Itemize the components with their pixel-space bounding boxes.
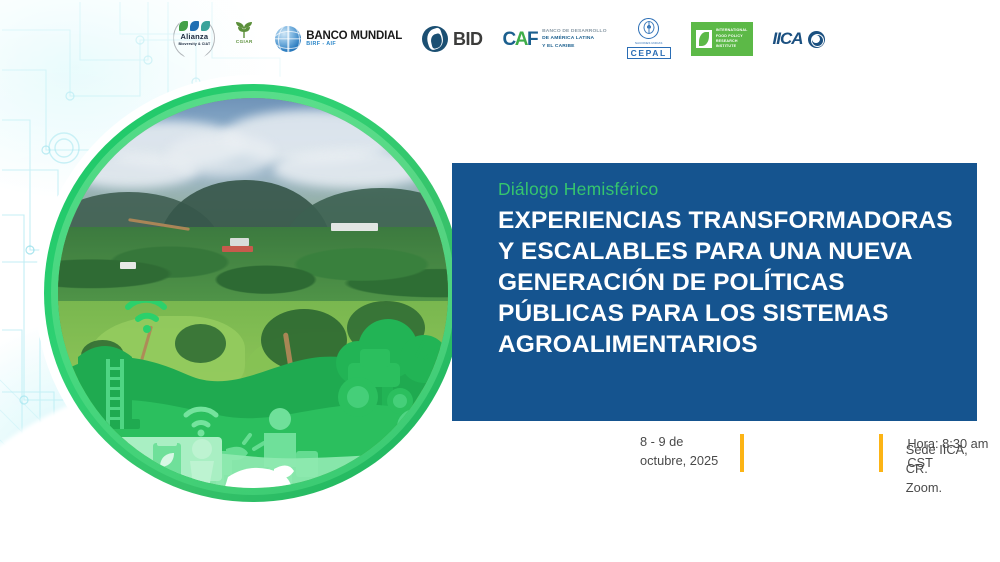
alianza-leaf-icon — [179, 18, 210, 31]
silo-icon — [70, 346, 140, 429]
logo-alianza-bioversity-ciat: Alianza Bioversity & CIAT — [175, 18, 213, 60]
iica-label: IICA — [773, 29, 803, 49]
event-venue-line-1: Sede IICA, CR. — [906, 440, 983, 478]
headline-line-3: GENERACIÓN DE POLÍTICAS — [498, 268, 967, 299]
logo-banco-mundial: BANCO MUNDIAL BIRF - AIF — [275, 18, 402, 60]
ifpri-line4: INSTITUTE — [716, 44, 748, 49]
divider-2 — [879, 434, 883, 472]
logo-ifpri: INTERNATIONAL FOOD POLICY RESEARCH INSTI… — [691, 22, 753, 56]
poster-canvas: Alianza Bioversity & CIAT CGIAR — [0, 0, 1000, 562]
bid-label: BID — [453, 29, 483, 50]
headline-line-4: PÚBLICAS PARA LOS SISTEMAS — [498, 299, 967, 330]
wifi-signal-icon — [128, 301, 164, 319]
alianza-subname: Bioversity & CIAT — [178, 42, 210, 46]
event-date-line-2: octubre, 2025 — [640, 451, 726, 470]
event-venue: Sede IICA, CR. Zoom. — [890, 440, 997, 445]
cgiar-plant-icon — [233, 18, 255, 38]
logo-cepal: NACIONES UNIDAS CEPAL — [627, 18, 671, 60]
iica-globe-icon — [808, 31, 825, 48]
logo-bid: BID — [422, 18, 483, 60]
headline-line-5: AGROALIMENTARIOS — [498, 330, 967, 361]
wifi-dot-icon — [143, 325, 151, 333]
headline-line-2: Y ESCALABLES PARA UNA NUEVA — [498, 237, 967, 268]
cepal-label: CEPAL — [627, 47, 671, 59]
cepal-un-subtitle: NACIONES UNIDAS — [635, 41, 662, 45]
caf-line3: Y EL CARIBE — [542, 43, 607, 50]
caf-letter-f: F — [527, 29, 537, 50]
united-nations-emblem-icon — [638, 18, 659, 39]
alianza-name: Alianza — [181, 32, 209, 41]
event-date: 8 - 9 de octubre, 2025 — [640, 432, 740, 439]
seed-bag-icon — [153, 439, 181, 479]
logo-caf: CAF BANCO DE DESARROLLO DE AMÉRICA LATIN… — [503, 18, 607, 60]
agri-icon-silhouette-band — [58, 301, 448, 488]
caf-line1: BANCO DE DESARROLLO — [542, 28, 607, 35]
bid-swirl-icon — [422, 26, 448, 52]
caf-line2: DE AMÉRICA LATINA — [542, 35, 607, 42]
ifpri-line1: INTERNATIONAL — [716, 28, 748, 33]
logo-iica: IICA — [773, 18, 825, 60]
cgiar-label: CGIAR — [236, 39, 253, 44]
banco-mundial-sublabel: BIRF - AIF — [306, 42, 402, 47]
logo-cgiar: CGIAR — [233, 18, 255, 60]
caf-wordmark-icon: CAF — [503, 30, 538, 49]
headline-panel: Diálogo Hemisférico EXPERIENCIAS TRANSFO… — [452, 163, 977, 421]
event-eyebrow: Diálogo Hemisférico — [498, 179, 658, 200]
event-details-row: 8 - 9 de octubre, 2025 Hora: 8:30 am CST… — [640, 432, 990, 488]
headline-line-1: EXPERIENCIAS TRANSFORMADORAS — [498, 206, 967, 237]
partner-logo-strip: Alianza Bioversity & CIAT CGIAR — [0, 16, 1000, 62]
event-headline: EXPERIENCIAS TRANSFORMADORAS Y ESCALABLE… — [498, 206, 967, 361]
divider-1 — [740, 434, 744, 472]
event-date-line-1: 8 - 9 de — [640, 432, 726, 451]
event-venue-line-2: Zoom. — [906, 478, 983, 497]
hero-photo-aerial-farmland — [58, 98, 448, 488]
caf-letter-a: A — [515, 29, 527, 50]
ifpri-leaf-icon — [696, 30, 712, 48]
caf-letter-c: C — [503, 29, 515, 50]
world-bank-globe-icon — [275, 26, 301, 52]
